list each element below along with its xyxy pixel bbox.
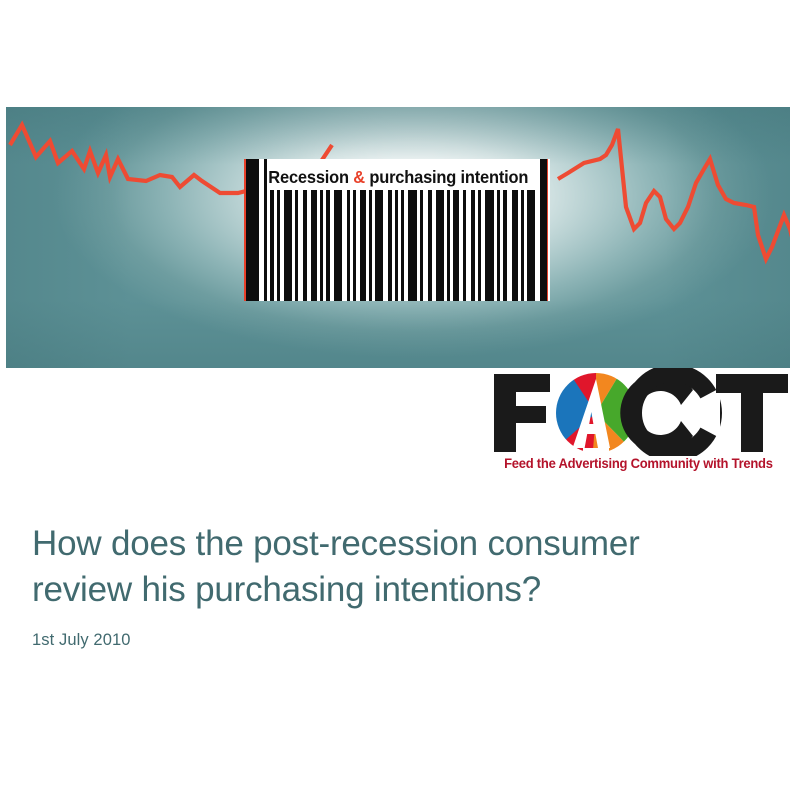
barcode-bar [503,190,507,301]
barcode-caption: Recession & purchasing intention [246,163,550,191]
barcode-bar [311,190,317,301]
barcode-bar [478,190,481,301]
barcode-bar [284,190,292,301]
barcode-bar [401,190,404,301]
barcode-bar [375,190,383,301]
barcode-bar [428,190,432,301]
fact-wordmark [488,368,794,456]
barcode-bar [497,190,500,301]
barcode-bar [369,190,372,301]
trend-line-right [558,129,790,267]
barcode-bar [512,190,518,301]
barcode-caption-ampersand: & [353,167,365,187]
logo-letter-t-icon [716,374,788,452]
barcode-bar [353,190,356,301]
barcode-bar [521,190,524,301]
fact-logo: Feed the Advertising Community with Tren… [488,368,794,480]
barcode-bar [277,190,280,301]
barcode-bar [471,190,475,301]
barcode-bar [295,190,298,301]
barcode-bar [527,190,535,301]
barcode-bar [485,190,494,301]
barcode-bar [436,190,444,301]
barcode-bar [453,190,459,301]
title-block: How does the post-recession consumer rev… [32,521,762,650]
barcode-graphic: Recession & purchasing intention [238,159,558,301]
barcode-bar [463,190,466,301]
barcode-bar [270,190,274,301]
page-date: 1st July 2010 [32,631,762,650]
barcode-bar [326,190,330,301]
logo-letter-c-icon [620,373,720,453]
barcode-caption-after: purchasing intention [365,167,528,187]
barcode-bar [420,190,423,301]
barcode-caption-text: Recession & purchasing intention [268,167,528,188]
barcode-caption-before: Recession [268,167,353,187]
hero-banner-image: Recession & purchasing intention [6,107,790,368]
page-title: How does the post-recession consumer rev… [32,521,762,613]
barcode-bar [447,190,450,301]
barcode-bar [303,190,307,301]
barcode-bar [334,190,342,301]
barcode-bar [395,190,398,301]
barcode-bar [388,190,392,301]
barcode-bar [360,190,366,301]
barcode-bar [408,190,417,301]
fact-tagline: Feed the Advertising Community with Tren… [490,456,787,471]
barcode-bar [347,190,350,301]
barcode-bar [320,190,323,301]
logo-letter-f-icon [494,374,550,452]
